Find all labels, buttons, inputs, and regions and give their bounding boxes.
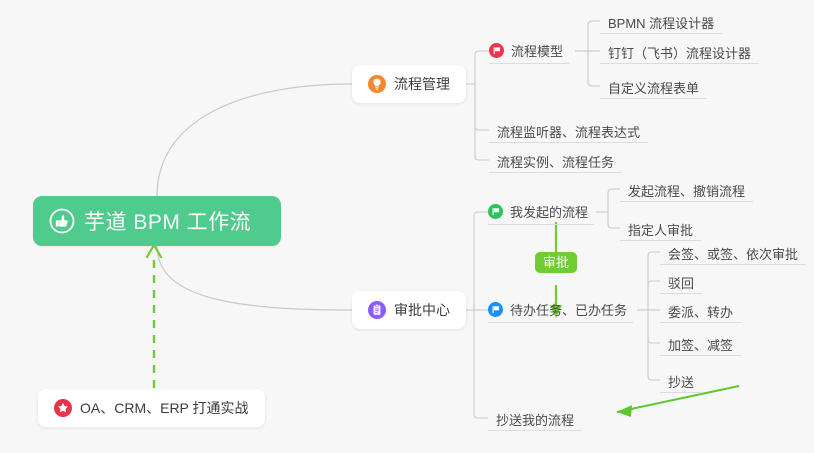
leaf-node-start-cancel-process[interactable]: 发起流程、撤销流程 [620,176,753,202]
branch-node-approval-center[interactable]: 审批中心 [352,291,466,329]
leaf-node-custom-form[interactable]: 自定义流程表单 [600,73,707,99]
link-ac-to-cc [474,310,488,418]
sub-label-my-initiated: 我发起的流程 [510,202,588,221]
leaf-node-countersign[interactable]: 会签、或签、依次审批 [660,239,806,265]
leaf-node-process-listener[interactable]: 流程监听器、流程表达式 [489,117,648,143]
leaf-node-assignee-approval[interactable]: 指定人审批 [620,215,701,241]
lightbulb-icon [368,75,386,93]
approval-annotation-badge: 审批 [535,252,577,273]
link-todo-c4 [648,310,660,343]
leaf-node-process-instance[interactable]: 流程实例、流程任务 [489,147,622,173]
sub-label-process-model: 流程模型 [511,41,563,60]
link-pm-to-listener [475,84,489,130]
integration-arrowhead-up [147,245,161,257]
mindmap-canvas: 芋道 BPM 工作流 流程管理 流程模型 流程监听器、流程表达式 流程实例、流 [0,0,814,453]
leaf-label-cc-to-me: 抄送我的流程 [496,414,574,427]
link-root-to-process-management [157,84,352,196]
leaf-label-process-listener: 流程监听器、流程表达式 [497,126,640,139]
flag-icon [488,302,503,317]
flag-icon [489,43,504,58]
leaf-label-assignee-approval: 指定人审批 [628,224,693,237]
leaf-label-delegate-transfer: 委派、转办 [668,306,733,319]
leaf-label-start-cancel-process: 发起流程、撤销流程 [628,185,745,198]
leaf-node-dingtalk-designer[interactable]: 钉钉（飞书）流程设计器 [600,38,759,64]
star-icon [54,399,72,417]
leaf-node-add-remove-sign[interactable]: 加签、减签 [660,330,741,356]
leaf-node-bpmn-designer[interactable]: BPMN 流程设计器 [600,8,722,34]
link-ac-to-initiated [474,212,488,310]
flag-icon [488,204,503,219]
branch-node-process-management[interactable]: 流程管理 [352,65,466,103]
root-node[interactable]: 芋道 BPM 工作流 [33,196,281,246]
leaf-label-countersign: 会签、或签、依次审批 [668,248,798,261]
leaf-label-process-instance: 流程实例、流程任务 [497,156,614,169]
link-init-c2 [608,212,620,228]
leaf-node-reject[interactable]: 驳回 [660,268,702,294]
document-icon [368,301,386,319]
leaf-label-carbon-copy: 抄送 [668,376,694,389]
link-root-to-approval-center [157,246,352,310]
branch-label-approval-center: 审批中心 [394,300,450,320]
link-model-c1 [588,21,600,51]
leaf-node-delegate-transfer[interactable]: 委派、转办 [660,297,741,323]
link-init-c1 [608,189,620,212]
sub-node-my-initiated[interactable]: 我发起的流程 [488,199,594,225]
sub-label-todo-done-tasks: 待办任务、已办任务 [510,300,627,319]
sub-node-todo-done-tasks[interactable]: 待办任务、已办任务 [488,297,633,323]
leaf-label-add-remove-sign: 加签、减签 [668,339,733,352]
sub-node-process-model[interactable]: 流程模型 [489,38,569,64]
callout-label-integration: OA、CRM、ERP 打通实战 [80,398,249,418]
root-label: 芋道 BPM 工作流 [84,206,251,236]
leaf-node-carbon-copy[interactable]: 抄送 [660,367,702,393]
leaf-node-cc-to-me[interactable]: 抄送我的流程 [488,405,582,431]
link-todo-c2 [648,281,660,310]
link-pm-to-instance [475,84,489,160]
link-todo-c1 [648,252,660,310]
thumbs-up-icon [49,208,75,234]
link-todo-c5 [648,310,660,380]
branch-label-process-management: 流程管理 [394,74,450,94]
leaf-label-dingtalk-designer: 钉钉（飞书）流程设计器 [608,47,751,60]
link-model-c3 [588,51,600,86]
leaf-label-reject: 驳回 [668,277,694,290]
leaf-label-custom-form: 自定义流程表单 [608,82,699,95]
leaf-label-bpmn-designer: BPMN 流程设计器 [608,17,714,30]
link-pm-to-model [475,51,489,84]
cc-annotation-arrowhead [617,405,632,417]
callout-node-integration[interactable]: OA、CRM、ERP 打通实战 [38,389,265,427]
